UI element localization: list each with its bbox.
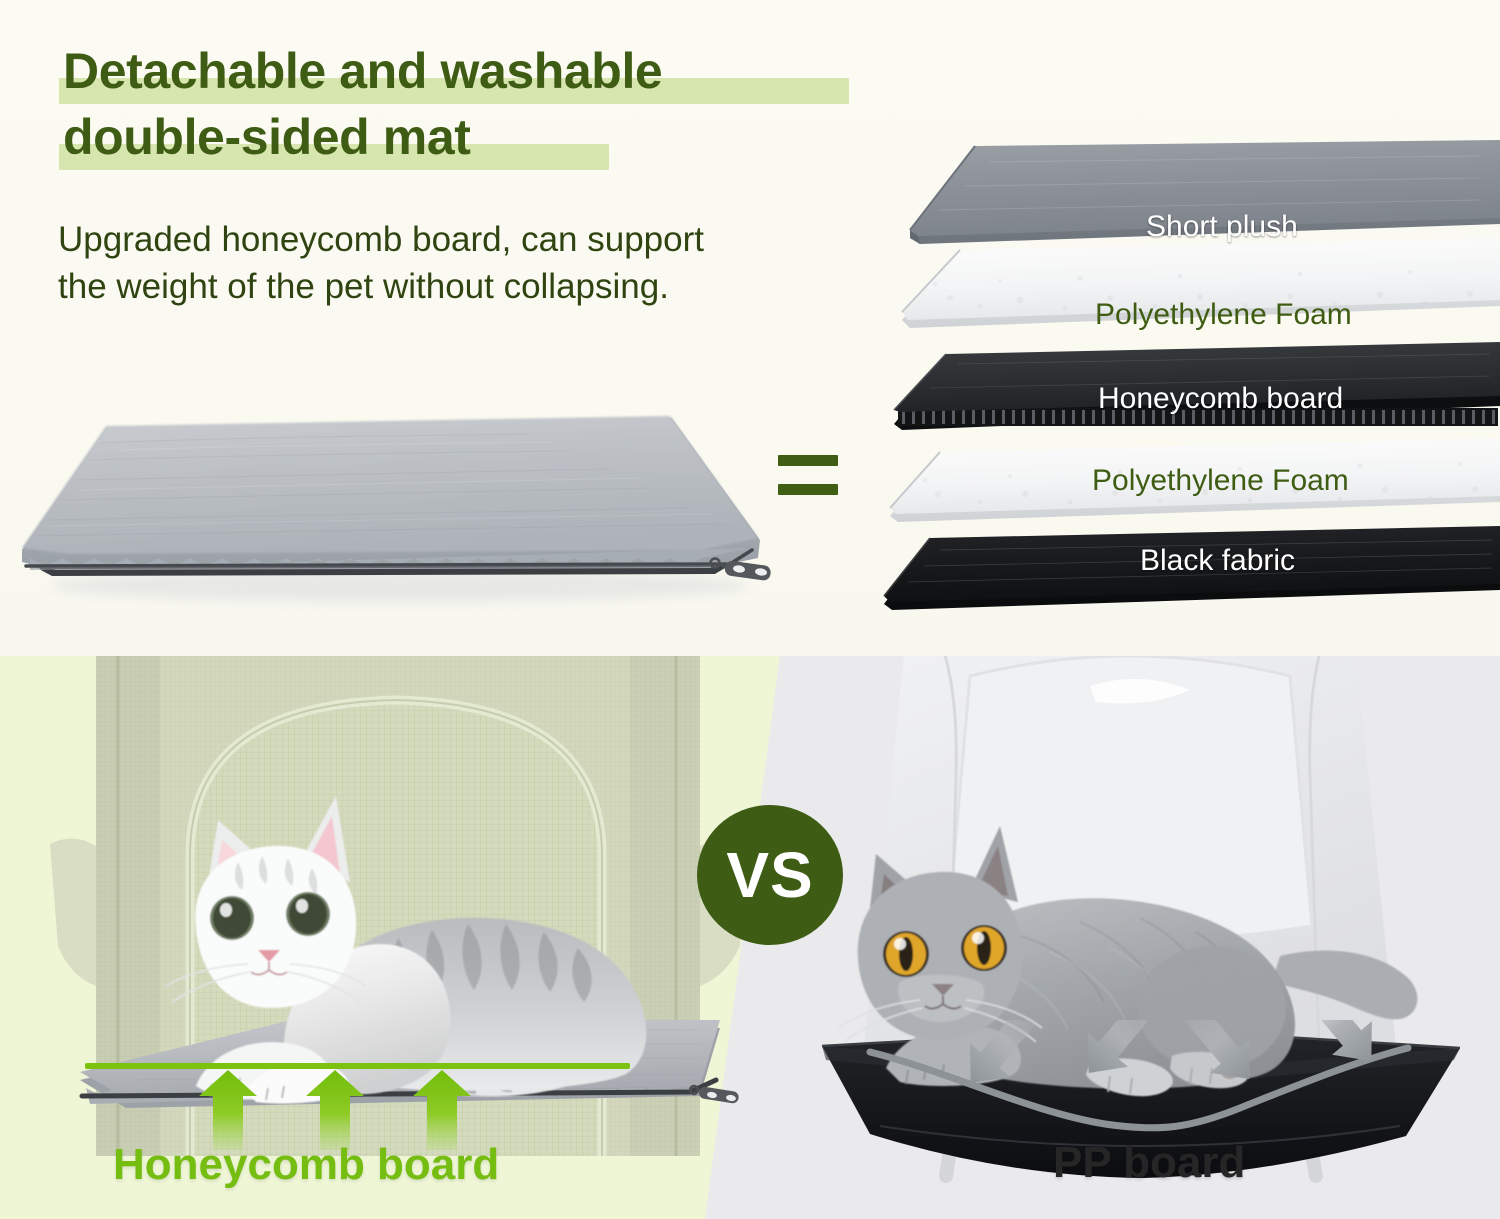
headline-line-2: double-sided mat	[63, 104, 893, 170]
equals-bar-bottom	[778, 484, 838, 495]
plush-mat-graphic	[10, 398, 800, 628]
caption-pp-board: PP board	[1053, 1138, 1245, 1188]
plush-mat-illustration	[10, 398, 800, 628]
pp-board-sag-arrows	[860, 1020, 1420, 1140]
subheadline-line-2: the weight of the pet without collapsing…	[58, 263, 848, 310]
sagging-support-line	[870, 1048, 1408, 1128]
straight-support-line	[85, 1063, 630, 1069]
caption-honeycomb-board: Honeycomb board	[113, 1140, 499, 1190]
subheadline-block: Upgraded honeycomb board, can support th…	[58, 216, 848, 310]
headline-line-1-text: Detachable and washable	[63, 43, 662, 99]
down-arrow-2	[1069, 1020, 1164, 1090]
down-arrow-3	[1174, 1020, 1269, 1096]
layer-label-short-plush: Short plush	[1146, 210, 1298, 244]
headline-line-2-text: double-sided mat	[63, 109, 471, 165]
headline-line-1: Detachable and washable	[63, 38, 893, 104]
equals-sign	[778, 455, 838, 515]
layer-label-black-fabric: Black fabric	[1140, 544, 1295, 578]
subheadline-line-1: Upgraded honeycomb board, can support	[58, 216, 848, 263]
layer-stack-illustration: Short plush Polyethylene Foam Honeycomb …	[880, 138, 1500, 618]
headline-block: Detachable and washable double-sided mat	[63, 38, 893, 170]
vs-badge-label: VS	[726, 838, 813, 912]
layer-label-honeycomb-board: Honeycomb board	[1098, 382, 1343, 416]
honeycomb-support-arrows	[0, 1030, 700, 1150]
down-arrow-1	[951, 1020, 1046, 1100]
up-arrow-1	[199, 1070, 257, 1150]
layer-label-foam-upper: Polyethylene Foam	[1095, 298, 1352, 332]
equals-bar-top	[778, 455, 838, 466]
up-arrow-3	[413, 1070, 471, 1150]
vs-badge: VS	[697, 805, 843, 945]
layer-label-foam-lower: Polyethylene Foam	[1092, 464, 1349, 498]
infographic-page: Detachable and washable double-sided mat…	[0, 0, 1500, 1219]
top-panel: Detachable and washable double-sided mat…	[0, 0, 1500, 656]
up-arrow-2	[306, 1070, 364, 1150]
